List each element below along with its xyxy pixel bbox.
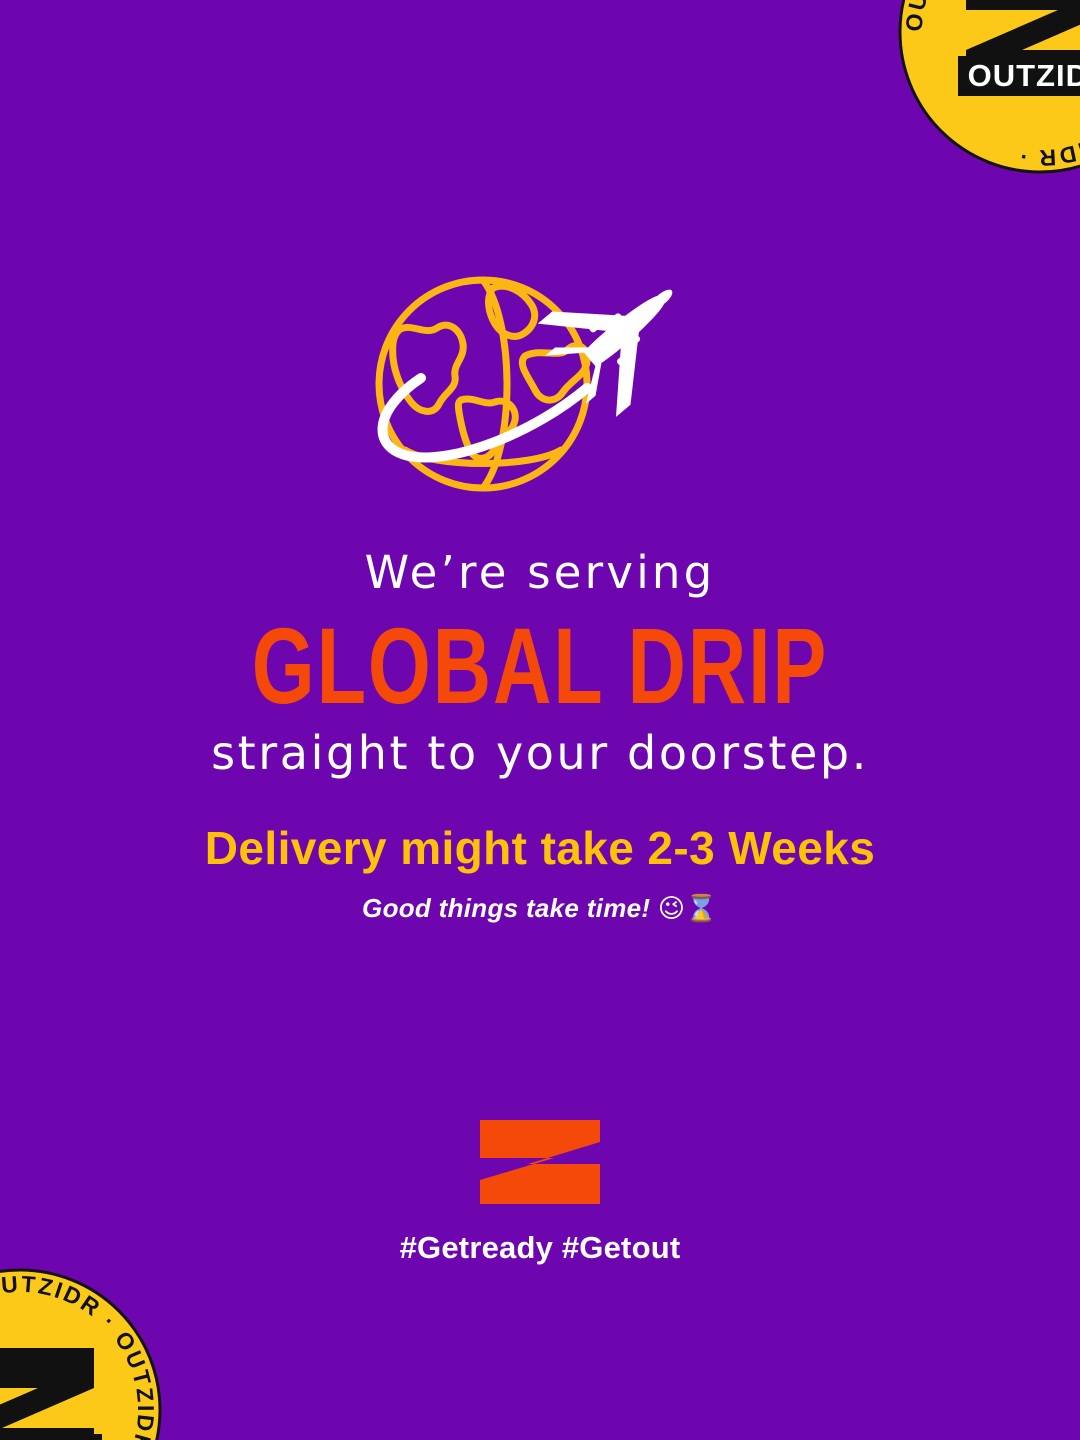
headline-main: GLOBAL DRIP — [43, 604, 1037, 729]
outzidr-sticker-bottom-left: OUTZIDR · OUTZIDR · OUTZIDR · OUTZIDR · … — [0, 1260, 170, 1440]
outzidr-z-logo — [478, 1118, 602, 1206]
delivery-note-text: Good things take time! — [362, 893, 650, 923]
headline-sub: straight to your doorstep. — [0, 728, 1080, 779]
badge-wordmark: OUTZIDR — [0, 1436, 92, 1440]
orbit-swoosh — [383, 378, 587, 457]
globe-airplane-illustration — [365, 272, 715, 508]
delivery-notice: Delivery might take 2-3 Weeks Good thing… — [0, 822, 1080, 925]
footer-brand: #Getready #Getout — [0, 1118, 1080, 1266]
headline-block: We’re serving GLOBAL DRIP straight to yo… — [0, 548, 1080, 779]
badge-wordmark: OUTZIDR — [968, 58, 1080, 93]
delivery-note-emoji: 😉⌛ — [658, 894, 718, 924]
delivery-headline: Delivery might take 2-3 Weeks — [0, 822, 1080, 875]
headline-kicker: We’re serving — [0, 548, 1080, 598]
footer-hashtags: #Getready #Getout — [0, 1230, 1080, 1266]
outzidr-sticker-top-right: OUTZIDR · OUTZIDR · OUTZIDR · OUTZIDR · … — [890, 0, 1080, 182]
delivery-note: Good things take time! 😉⌛ — [0, 893, 1080, 925]
promo-poster: OUTZIDR · OUTZIDR · OUTZIDR · OUTZIDR · … — [0, 0, 1080, 1440]
